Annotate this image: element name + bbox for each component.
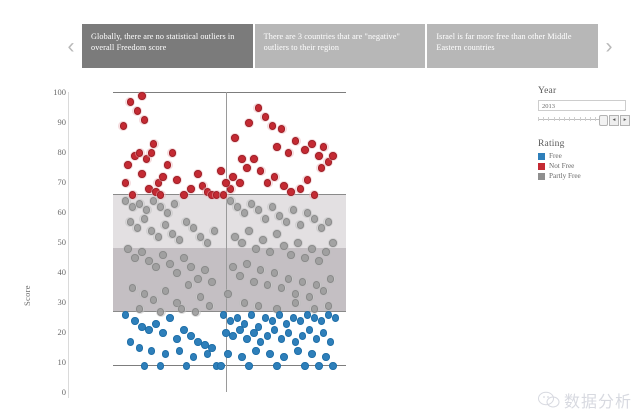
data-point[interactable] bbox=[194, 170, 201, 177]
data-point[interactable] bbox=[243, 164, 250, 171]
data-point[interactable] bbox=[127, 98, 134, 105]
data-point[interactable] bbox=[141, 215, 148, 222]
data-point[interactable] bbox=[176, 347, 183, 354]
legend-title: Rating bbox=[538, 139, 634, 149]
data-point[interactable] bbox=[315, 362, 322, 369]
data-point[interactable] bbox=[187, 185, 194, 192]
data-point[interactable] bbox=[315, 257, 322, 264]
y-axis-ticks: 1009080706050403020100 bbox=[30, 78, 66, 410]
slider-tick bbox=[574, 117, 575, 121]
data-point[interactable] bbox=[297, 221, 304, 228]
data-point[interactable] bbox=[325, 311, 332, 318]
story-card-2[interactable]: There are 3 countries that are "negative… bbox=[255, 24, 426, 68]
y-tick-40: 40 bbox=[36, 268, 66, 277]
data-point[interactable] bbox=[173, 269, 180, 276]
data-point[interactable] bbox=[197, 293, 204, 300]
data-point[interactable] bbox=[152, 320, 159, 327]
data-point[interactable] bbox=[229, 263, 236, 270]
whisker-high-line bbox=[113, 92, 346, 93]
story-card-2-text: There are 3 countries that are "negative… bbox=[264, 32, 400, 52]
slider-knob[interactable] bbox=[599, 115, 608, 126]
data-point[interactable] bbox=[141, 116, 148, 123]
data-point[interactable] bbox=[332, 314, 339, 321]
legend-item-free[interactable]: Free bbox=[538, 152, 634, 160]
slider-tick bbox=[538, 117, 539, 121]
data-point[interactable] bbox=[297, 317, 304, 324]
data-point[interactable] bbox=[208, 278, 215, 285]
y-tick-50: 50 bbox=[36, 238, 66, 247]
slider-tick bbox=[554, 117, 555, 121]
slider-tick bbox=[543, 117, 544, 121]
data-point[interactable] bbox=[138, 92, 145, 99]
data-point[interactable] bbox=[150, 296, 157, 303]
data-point[interactable] bbox=[248, 311, 255, 318]
data-point[interactable] bbox=[325, 302, 332, 309]
slider-tick bbox=[564, 117, 565, 121]
data-point[interactable] bbox=[234, 314, 241, 321]
data-point[interactable] bbox=[245, 362, 252, 369]
slider-tick bbox=[595, 117, 596, 121]
dashboard-root: ‹ Globally, there are no statistical out… bbox=[0, 0, 640, 418]
data-point[interactable] bbox=[315, 152, 322, 159]
slider-tick bbox=[548, 117, 549, 121]
data-point[interactable] bbox=[311, 191, 318, 198]
story-card-list: Globally, there are no statistical outli… bbox=[82, 24, 598, 68]
data-point[interactable] bbox=[141, 290, 148, 297]
data-point[interactable] bbox=[187, 332, 194, 339]
data-point[interactable] bbox=[243, 260, 250, 267]
legend-item-partly-free[interactable]: Partly Free bbox=[538, 172, 634, 180]
data-point[interactable] bbox=[190, 224, 197, 231]
data-point[interactable] bbox=[150, 140, 157, 147]
data-point[interactable] bbox=[238, 155, 245, 162]
data-point[interactable] bbox=[162, 221, 169, 228]
data-point[interactable] bbox=[201, 266, 208, 273]
data-point[interactable] bbox=[273, 230, 280, 237]
data-point[interactable] bbox=[173, 176, 180, 183]
data-point[interactable] bbox=[318, 164, 325, 171]
data-point[interactable] bbox=[204, 350, 211, 357]
data-point[interactable] bbox=[287, 251, 294, 258]
data-point[interactable] bbox=[166, 260, 173, 267]
legend-item-not-free[interactable]: Not Free bbox=[538, 162, 634, 170]
data-point[interactable] bbox=[255, 104, 262, 111]
data-point[interactable] bbox=[152, 263, 159, 270]
data-point[interactable] bbox=[138, 170, 145, 177]
data-point[interactable] bbox=[308, 350, 315, 357]
data-point[interactable] bbox=[176, 236, 183, 243]
slider-tick bbox=[569, 117, 570, 121]
data-point[interactable] bbox=[231, 134, 238, 141]
data-point[interactable] bbox=[129, 284, 136, 291]
y-tick-0: 0 bbox=[36, 388, 66, 397]
data-point[interactable] bbox=[252, 347, 259, 354]
data-point[interactable] bbox=[148, 149, 155, 156]
slider-tick bbox=[580, 117, 581, 121]
data-point[interactable] bbox=[262, 215, 269, 222]
data-point[interactable] bbox=[236, 326, 243, 333]
story-card-3[interactable]: Israel is far more free than other Middl… bbox=[427, 24, 598, 68]
data-point[interactable] bbox=[325, 218, 332, 225]
data-point[interactable] bbox=[145, 326, 152, 333]
data-point[interactable] bbox=[269, 203, 276, 210]
year-slider-row[interactable]: ◂ ▸ bbox=[538, 114, 634, 126]
data-point[interactable] bbox=[311, 215, 318, 222]
data-point[interactable] bbox=[180, 254, 187, 261]
data-point[interactable] bbox=[148, 347, 155, 354]
data-point[interactable] bbox=[273, 362, 280, 369]
data-point[interactable] bbox=[241, 209, 248, 216]
data-point[interactable] bbox=[134, 107, 141, 114]
data-point[interactable] bbox=[262, 113, 269, 120]
data-point[interactable] bbox=[329, 362, 336, 369]
data-point[interactable] bbox=[238, 239, 245, 246]
y-tick-70: 70 bbox=[36, 178, 66, 187]
data-point[interactable] bbox=[327, 275, 334, 282]
data-point[interactable] bbox=[304, 176, 311, 183]
data-point[interactable] bbox=[294, 239, 301, 246]
data-point[interactable] bbox=[266, 248, 273, 255]
data-point[interactable] bbox=[311, 314, 318, 321]
step-back-icon[interactable]: ◂ bbox=[609, 115, 619, 126]
data-point[interactable] bbox=[159, 173, 166, 180]
data-point[interactable] bbox=[127, 338, 134, 345]
data-point[interactable] bbox=[136, 344, 143, 351]
data-point[interactable] bbox=[283, 320, 290, 327]
data-point[interactable] bbox=[320, 329, 327, 336]
chevron-right-icon[interactable]: › bbox=[598, 22, 620, 70]
data-point[interactable] bbox=[166, 314, 173, 321]
legend-label-partly-free: Partly Free bbox=[549, 172, 581, 180]
data-point[interactable] bbox=[136, 305, 143, 312]
legend-swatch-partly-free bbox=[538, 173, 545, 180]
data-point[interactable] bbox=[224, 290, 231, 297]
watermark-text: 数据分析 bbox=[564, 388, 632, 412]
data-point[interactable] bbox=[178, 305, 185, 312]
data-point[interactable] bbox=[159, 251, 166, 258]
legend-swatch-free bbox=[538, 153, 545, 160]
data-point[interactable] bbox=[131, 317, 138, 324]
watermark: 数据分析 bbox=[538, 388, 632, 412]
data-point[interactable] bbox=[236, 272, 243, 279]
data-point[interactable] bbox=[320, 143, 327, 150]
chevron-left-icon[interactable]: ‹ bbox=[60, 22, 82, 70]
data-point[interactable] bbox=[169, 149, 176, 156]
data-point[interactable] bbox=[190, 353, 197, 360]
data-point[interactable] bbox=[192, 308, 199, 315]
data-point[interactable] bbox=[297, 185, 304, 192]
data-point[interactable] bbox=[164, 209, 171, 216]
y-tick-100: 100 bbox=[36, 88, 66, 97]
data-point[interactable] bbox=[159, 329, 166, 336]
slider-tick bbox=[585, 117, 586, 121]
data-point[interactable] bbox=[155, 233, 162, 240]
data-point[interactable] bbox=[229, 332, 236, 339]
slider-tick bbox=[559, 117, 560, 121]
data-point[interactable] bbox=[290, 206, 297, 213]
year-value-field[interactable]: 2013 bbox=[538, 100, 626, 111]
y-tick-90: 90 bbox=[36, 118, 66, 127]
data-point[interactable] bbox=[308, 140, 315, 147]
data-point[interactable] bbox=[134, 224, 141, 231]
data-point[interactable] bbox=[122, 311, 129, 318]
story-card-1-text: Globally, there are no statistical outli… bbox=[91, 32, 234, 52]
data-point[interactable] bbox=[157, 362, 164, 369]
data-point[interactable] bbox=[322, 248, 329, 255]
data-point[interactable] bbox=[185, 281, 192, 288]
slider-tick-marks bbox=[538, 117, 608, 122]
data-point[interactable] bbox=[287, 188, 294, 195]
data-point[interactable] bbox=[276, 311, 283, 318]
data-point[interactable] bbox=[301, 362, 308, 369]
data-point[interactable] bbox=[318, 317, 325, 324]
vertical-divider-line bbox=[226, 92, 227, 392]
y-tick-20: 20 bbox=[36, 328, 66, 337]
data-point[interactable] bbox=[206, 302, 213, 309]
data-point[interactable] bbox=[204, 239, 211, 246]
story-navigation-strip: ‹ Globally, there are no statistical out… bbox=[60, 22, 620, 70]
data-point[interactable] bbox=[164, 161, 171, 168]
wechat-icon bbox=[538, 391, 560, 409]
data-point[interactable] bbox=[280, 353, 287, 360]
data-point[interactable] bbox=[222, 179, 229, 186]
data-point[interactable] bbox=[157, 308, 164, 315]
y-axis-line bbox=[68, 92, 69, 398]
data-point[interactable] bbox=[294, 347, 301, 354]
data-point[interactable] bbox=[252, 245, 259, 252]
y-tick-80: 80 bbox=[36, 148, 66, 157]
data-point[interactable] bbox=[124, 245, 131, 252]
data-point[interactable] bbox=[269, 317, 276, 324]
data-point[interactable] bbox=[245, 119, 252, 126]
data-point[interactable] bbox=[238, 353, 245, 360]
data-point[interactable] bbox=[138, 248, 145, 255]
data-point[interactable] bbox=[308, 245, 315, 252]
data-point[interactable] bbox=[143, 206, 150, 213]
data-point[interactable] bbox=[224, 350, 231, 357]
data-point[interactable] bbox=[236, 179, 243, 186]
data-point[interactable] bbox=[329, 152, 336, 159]
data-point[interactable] bbox=[122, 179, 129, 186]
data-point[interactable] bbox=[255, 302, 262, 309]
data-point[interactable] bbox=[250, 278, 257, 285]
data-point[interactable] bbox=[211, 227, 218, 234]
filter-panel: Year 2013 ◂ ▸ Rating Free Not Free Partl… bbox=[538, 86, 634, 182]
y-tick-10: 10 bbox=[36, 358, 66, 367]
data-point[interactable] bbox=[313, 335, 320, 342]
data-point[interactable] bbox=[266, 350, 273, 357]
data-point[interactable] bbox=[301, 254, 308, 261]
data-point[interactable] bbox=[217, 167, 224, 174]
data-point[interactable] bbox=[327, 338, 334, 345]
year-filter-title: Year bbox=[538, 86, 634, 96]
y-tick-60: 60 bbox=[36, 208, 66, 217]
data-point[interactable] bbox=[217, 362, 224, 369]
data-point[interactable] bbox=[269, 122, 276, 129]
data-point[interactable] bbox=[171, 200, 178, 207]
scatter-chart: Score 1009080706050403020100 bbox=[0, 78, 530, 410]
data-point[interactable] bbox=[250, 155, 257, 162]
legend-label-not-free: Not Free bbox=[549, 162, 574, 170]
data-point[interactable] bbox=[141, 362, 148, 369]
data-point[interactable] bbox=[273, 143, 280, 150]
y-tick-30: 30 bbox=[36, 298, 66, 307]
data-point[interactable] bbox=[194, 275, 201, 282]
data-point[interactable] bbox=[304, 311, 311, 318]
slider-tick bbox=[590, 117, 591, 121]
legend-swatch-not-free bbox=[538, 163, 545, 170]
data-point[interactable] bbox=[162, 350, 169, 357]
story-card-3-text: Israel is far more free than other Middl… bbox=[436, 32, 571, 52]
data-point[interactable] bbox=[162, 287, 169, 294]
legend-label-free: Free bbox=[549, 152, 562, 160]
data-point[interactable] bbox=[250, 329, 257, 336]
data-point[interactable] bbox=[187, 263, 194, 270]
data-point[interactable] bbox=[320, 287, 327, 294]
story-card-1[interactable]: Globally, there are no statistical outli… bbox=[82, 24, 253, 68]
year-slider[interactable] bbox=[538, 114, 608, 126]
data-point[interactable] bbox=[183, 362, 190, 369]
data-point[interactable] bbox=[173, 335, 180, 342]
data-point[interactable] bbox=[241, 299, 248, 306]
data-point[interactable] bbox=[120, 122, 127, 129]
data-point[interactable] bbox=[329, 239, 336, 246]
step-forward-icon[interactable]: ▸ bbox=[620, 115, 630, 126]
data-point[interactable] bbox=[245, 227, 252, 234]
data-point[interactable] bbox=[220, 311, 227, 318]
data-point[interactable] bbox=[180, 326, 187, 333]
data-point[interactable] bbox=[259, 236, 266, 243]
data-point[interactable] bbox=[255, 206, 262, 213]
plot-area bbox=[113, 92, 346, 392]
data-point[interactable] bbox=[311, 305, 318, 312]
data-point[interactable] bbox=[280, 242, 287, 249]
data-point[interactable] bbox=[124, 161, 131, 168]
data-point[interactable] bbox=[283, 218, 290, 225]
data-point[interactable] bbox=[243, 335, 250, 342]
data-point[interactable] bbox=[322, 353, 329, 360]
